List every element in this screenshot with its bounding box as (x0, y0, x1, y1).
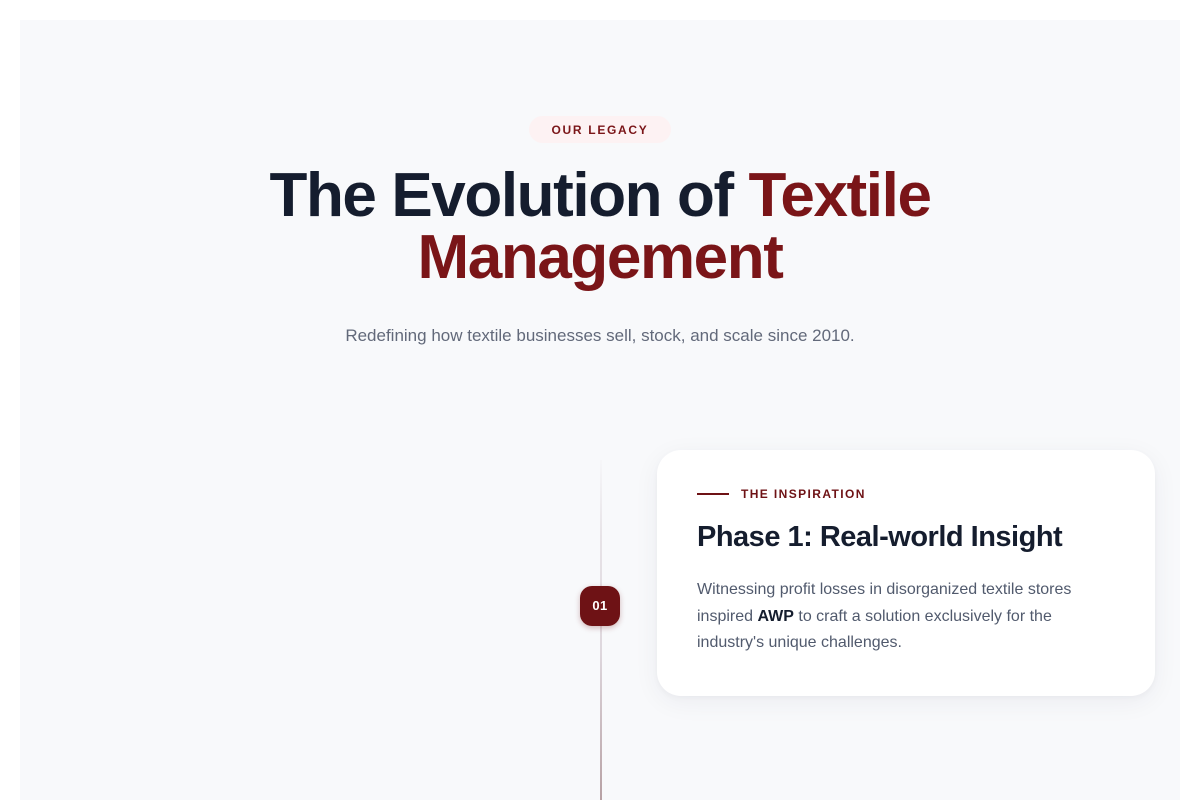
timeline-section: 01 THE INSPIRATION Phase 1: Real-world I… (20, 460, 1180, 800)
page-root: OUR LEGACY The Evolution of Textile Mana… (20, 20, 1180, 800)
timeline-axis-line (600, 460, 602, 800)
timeline-node-badge: 01 (580, 586, 620, 626)
hero-subtitle: Redefining how textile businesses sell, … (20, 323, 1180, 349)
page-title-lead: The Evolution of (269, 161, 748, 230)
card-eyebrow-label: THE INSPIRATION (741, 488, 866, 500)
page-title: The Evolution of Textile Management (200, 165, 1000, 289)
dash-rule-icon (697, 493, 729, 495)
card-eyebrow: THE INSPIRATION (697, 488, 1115, 500)
timeline-card[interactable]: THE INSPIRATION Phase 1: Real-world Insi… (657, 450, 1155, 696)
card-body: Witnessing profit losses in disorganized… (697, 577, 1115, 655)
hero-eyebrow-badge: OUR LEGACY (529, 116, 670, 143)
card-title: Phase 1: Real-world Insight (697, 520, 1115, 556)
card-body-emphasis: AWP (757, 608, 793, 625)
hero-section: OUR LEGACY The Evolution of Textile Mana… (20, 20, 1180, 349)
